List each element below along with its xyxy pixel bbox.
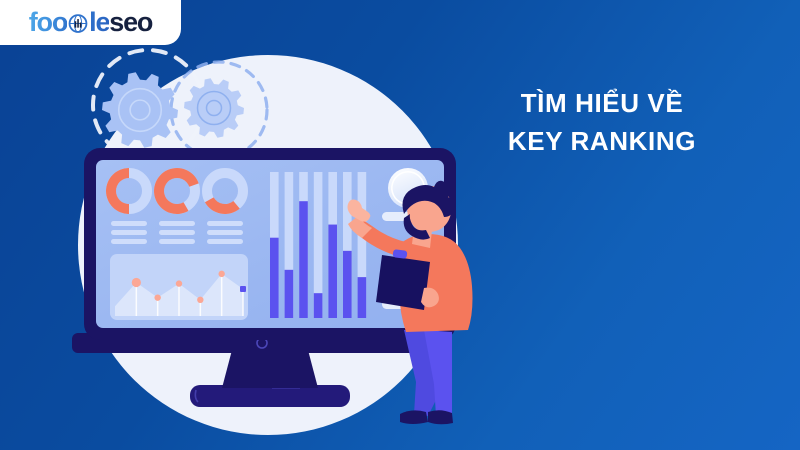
area-marker-dot [218, 271, 224, 277]
stat-label-line [207, 221, 243, 226]
illustration-canvas [0, 0, 560, 450]
area-marker-dot [154, 294, 160, 300]
logo-text-foo: foo [29, 9, 67, 36]
brand-logo-badge[interactable]: foo le seo [0, 0, 181, 45]
stat-label-line [111, 230, 147, 235]
stat-label-line [207, 239, 243, 244]
shoe-back [400, 410, 428, 424]
bar-fill [343, 251, 352, 318]
globe-chart-icon [67, 13, 89, 35]
monitor-neck [222, 350, 318, 388]
page-title-line-2: KEY RANKING [452, 122, 752, 160]
area-marker-dot [176, 280, 182, 286]
monitor-base [190, 385, 350, 407]
page-title-line-1: TÌM HIỂU VỀ [452, 84, 752, 122]
stat-label-line [159, 239, 195, 244]
stat-label-line [111, 221, 147, 226]
page-title: TÌM HIỂU VỀ KEY RANKING [452, 84, 752, 161]
bar-fill [270, 238, 279, 318]
bar-fill [314, 293, 323, 318]
bar-fill [328, 225, 337, 318]
area-marker-square [240, 286, 246, 292]
shoe-front [428, 410, 453, 424]
area-marker-dot [132, 278, 141, 287]
area-marker-dot [197, 297, 203, 303]
logo-text-seo: seo [109, 9, 152, 36]
stat-label-line [207, 230, 243, 235]
bar-fill [358, 277, 367, 318]
stat-label-line [159, 230, 195, 235]
stat-label-line [111, 239, 147, 244]
bar-fill [285, 270, 294, 318]
bar-fill [299, 201, 308, 318]
stat-label-line [159, 221, 195, 226]
poster-canvas: foo le seo TÌM HIỂU VỀ KEY RANKING [0, 0, 800, 450]
stat-label-lines [111, 221, 243, 244]
logo-text-le: le [89, 9, 109, 36]
